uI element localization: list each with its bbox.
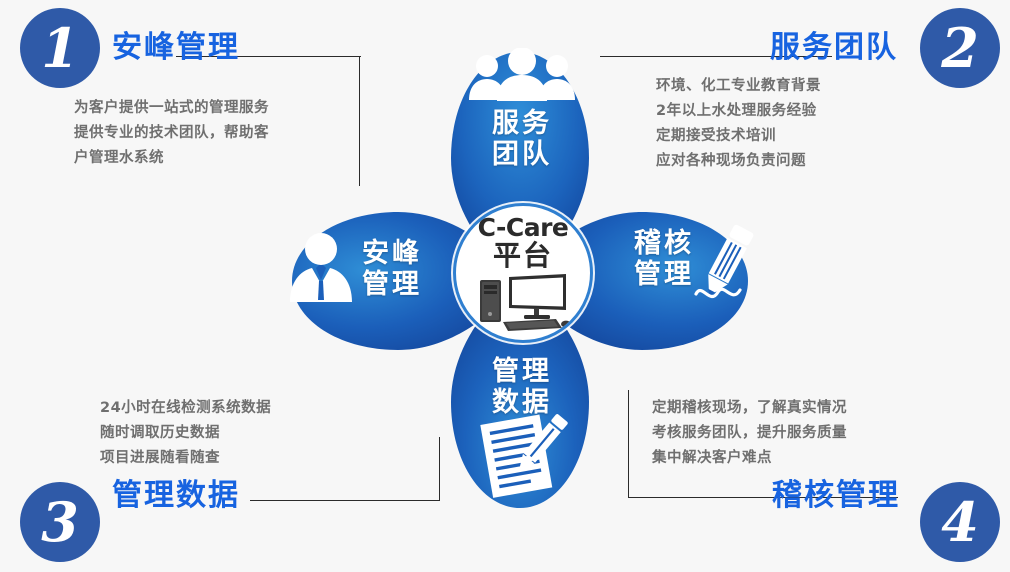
quadrant-body-line: 随时调取历史数据 — [100, 421, 271, 446]
desktop-computer-icon — [476, 272, 572, 334]
petal-label-service-team: 服务 团队 — [470, 108, 574, 170]
petal-label-line2: 数据 — [470, 387, 574, 418]
center-hub-title-cn: 平台 — [456, 241, 590, 270]
quadrant-body-line: 应对各种现场负责问题 — [656, 149, 821, 174]
petal-label-line2: 管理 — [340, 269, 444, 300]
quadrant-body-line: 24小时在线检测系统数据 — [100, 396, 271, 421]
petal-label-anfeng-management: 安峰 管理 — [340, 238, 444, 300]
infographic-canvas: 服务 团队 安峰 管理 稽核 管理 管理 数据 C-Care 平台 — [0, 0, 1010, 572]
petal-label-line1: 稽核 — [612, 228, 716, 259]
center-hub-c-care-platform: C-Care 平台 — [453, 203, 593, 343]
quadrant-body-line: 2年以上水处理服务经验 — [656, 99, 821, 124]
quadrant-body-line: 定期接受技术培训 — [656, 124, 821, 149]
petal-label-line1: 管理 — [470, 356, 574, 387]
petal-label-data-management: 管理 数据 — [470, 356, 574, 418]
quadrant-title-1: 安峰管理 — [112, 22, 240, 66]
quadrant-body-line: 项目进展随看随查 — [100, 446, 271, 471]
badge-number-3: 3 — [20, 482, 100, 562]
petal-label-line2: 团队 — [470, 139, 574, 170]
center-hub-title-en: C-Care — [456, 214, 590, 241]
quadrant-title-3: 管理数据 — [112, 470, 240, 514]
people-group-icon — [468, 48, 576, 102]
petal-label-audit-management: 稽核 管理 — [612, 228, 716, 290]
badge-number-1: 1 — [20, 8, 100, 88]
petal-label-line1: 服务 — [470, 108, 574, 139]
quadrant-body-line: 环境、化工专业教育背景 — [656, 74, 821, 99]
petal-label-line2: 管理 — [612, 259, 716, 290]
center-hub-text: C-Care 平台 — [456, 214, 590, 270]
petal-label-line1: 安峰 — [340, 238, 444, 269]
quadrant-body-3: 24小时在线检测系统数据 随时调取历史数据 项目进展随看随查 — [100, 396, 271, 471]
quadrant-body-line: 考核服务团队，提升服务质量 — [652, 421, 847, 446]
badge-number-4: 4 — [920, 482, 1000, 562]
quadrant-body-line: 集中解决客户难点 — [652, 446, 847, 471]
quadrant-body-1: 为客户提供一站式的管理服务 提供专业的技术团队，帮助客 户管理水系统 — [74, 96, 269, 171]
quadrant-body-line: 定期稽核现场，了解真实情况 — [652, 396, 847, 421]
quadrant-title-2: 服务团队 — [770, 22, 898, 66]
quadrant-title-4: 稽核管理 — [772, 470, 900, 514]
quadrant-body-2: 环境、化工专业教育背景 2年以上水处理服务经验 定期接受技术培训 应对各种现场负… — [656, 74, 821, 174]
document-pencil-icon — [478, 408, 568, 500]
quadrant-body-line: 户管理水系统 — [74, 146, 269, 171]
badge-number-2: 2 — [920, 8, 1000, 88]
quadrant-body-line: 提供专业的技术团队，帮助客 — [74, 121, 269, 146]
quadrant-body-line: 为客户提供一站式的管理服务 — [74, 96, 269, 121]
quadrant-body-4: 定期稽核现场，了解真实情况 考核服务团队，提升服务质量 集中解决客户难点 — [652, 396, 847, 471]
